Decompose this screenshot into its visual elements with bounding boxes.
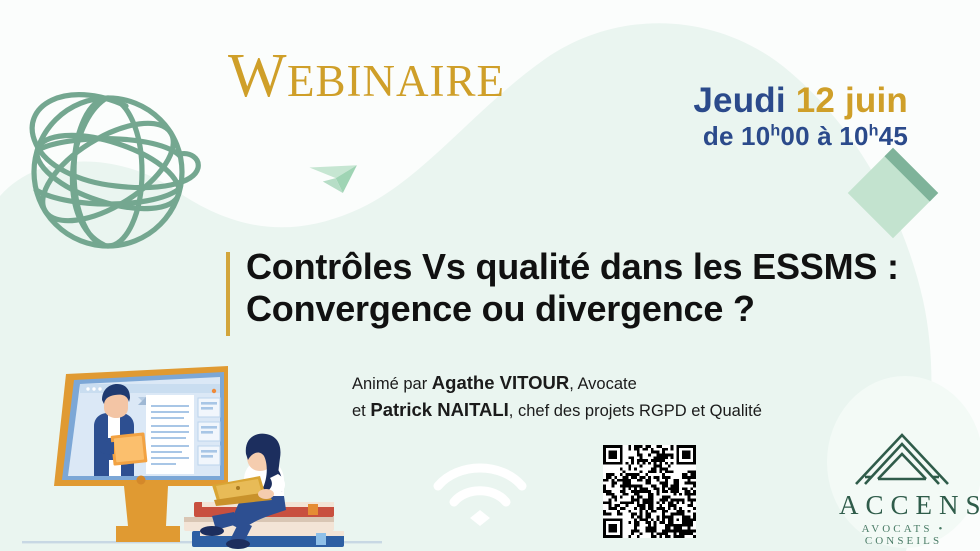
illustration-group [16, 364, 386, 551]
accens-logo: ACCENS AVOCATS • CONSEILS [832, 432, 972, 547]
accens-wordmark: ACCENS [832, 490, 972, 521]
accens-triangle-icon [852, 432, 952, 488]
speaker-line-1: Animé par Agathe VITOUR, Avocate [352, 370, 762, 397]
event-time-line: de 10h00 à 10h45 [693, 122, 908, 150]
speaker-2-name: Patrick NAITALI [370, 399, 508, 420]
speaker-2-role: , chef des projets RGPD et Qualité [509, 402, 762, 420]
title-line-1: Contrôles Vs qualité dans les ESSMS : [246, 246, 899, 288]
page-title: Contrôles Vs qualité dans les ESSMS : Co… [226, 246, 899, 330]
speaker-1-role: , Avocate [569, 375, 637, 393]
qr-code-canvas[interactable] [603, 445, 696, 538]
time-start-hour: 10 [741, 121, 770, 151]
time-joiner: à [817, 121, 832, 151]
paper-plane-icon [306, 157, 364, 197]
kicker-capital: W [228, 42, 287, 110]
event-day-month: 12 juin [796, 81, 908, 120]
wifi-icon [432, 456, 528, 528]
event-weekday: Jeudi [693, 81, 785, 120]
kicker-webinaire: WEBINAIRE [228, 45, 505, 107]
time-start-minutes: 00 [780, 121, 809, 151]
speakers-block: Animé par Agathe VITOUR, Avocate et Patr… [352, 370, 762, 424]
time-end-sep: h [869, 121, 879, 139]
title-accent-bar [226, 252, 230, 336]
kicker-rest: EBINAIRE [287, 56, 505, 106]
time-start-sep: h [770, 121, 780, 139]
accens-tagline: AVOCATS • CONSEILS [832, 523, 972, 547]
speaker-line-2: et Patrick NAITALI, chef des projets RGP… [352, 397, 762, 424]
event-date-line: Jeudi 12 juin [693, 82, 908, 120]
event-date-block: Jeudi 12 juin de 10h00 à 10h45 [693, 82, 908, 150]
time-end-minutes: 45 [879, 121, 908, 151]
qr-code[interactable] [603, 445, 696, 538]
time-end-hour: 10 [839, 121, 868, 151]
globe-icon [8, 72, 208, 262]
title-line-2: Convergence ou divergence ? [246, 288, 899, 330]
time-prefix: de [703, 121, 734, 151]
speaker-1-name: Agathe VITOUR [432, 372, 569, 393]
webinar-poster: WEBINAIRE Jeudi 12 juin de 10h00 à 10h45… [0, 0, 980, 551]
